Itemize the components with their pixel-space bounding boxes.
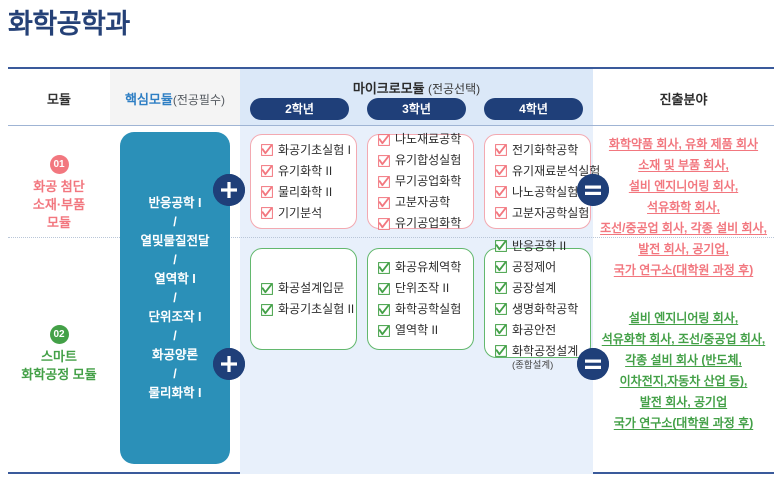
course-item: 전기화학공학 xyxy=(495,140,582,161)
check-icon xyxy=(495,282,507,294)
module-number-01: 01 xyxy=(50,155,69,174)
check-icon xyxy=(495,324,507,336)
course-item: 고분자공학실험 xyxy=(495,203,582,224)
year-pill-2[interactable]: 2학년 xyxy=(250,98,349,120)
course-label: 화공설계입문 xyxy=(278,278,344,299)
career-field-line: 석유화학 회사, xyxy=(593,197,774,218)
card-row2-year3[interactable]: 화공유체역학단위조작 II화학공학실험열역학 II xyxy=(367,248,474,350)
header-micro-module: 마이크로모듈 (전공선택) xyxy=(240,78,593,97)
course-item: 무기공업화학 xyxy=(378,171,465,192)
check-icon xyxy=(378,283,390,295)
course-item: 유기재료분석실험 xyxy=(495,161,582,182)
check-icon xyxy=(495,240,507,252)
course-item: 화공안전 xyxy=(495,320,582,341)
course-label: 화공안전 xyxy=(512,320,556,341)
course-sub-note: (종합설계) xyxy=(512,360,582,371)
table-body: 01 화공 첨단 소재·부품 모듈 02 스마트 화학공정 모듈 반응공학 I … xyxy=(8,126,774,474)
career-fields-row1: 화학약품 회사, 유화 제품 회사소재 및 부품 회사,설비 엔지니어링 회사,… xyxy=(593,134,774,281)
course-item: 화공기초실험 I xyxy=(261,140,348,161)
header-core-main: 핵심모듈 xyxy=(125,92,173,107)
course-label: 무기공업화학 xyxy=(395,171,461,192)
check-icon xyxy=(495,303,507,315)
course-item: 유기합성실험 xyxy=(378,150,465,171)
card-row1-year2[interactable]: 화공기초실험 I유기화학 II물리화학 II기기분석 xyxy=(250,134,357,229)
check-icon xyxy=(378,325,390,337)
course-item: 고분자공학 xyxy=(378,192,465,213)
course-label: 화학공정설계 xyxy=(512,341,578,362)
header-core-sub: (전공필수) xyxy=(173,93,225,107)
header-micro-main: 마이크로모듈 xyxy=(353,81,425,96)
career-field-line: 설비 엔지니어링 회사, xyxy=(593,176,774,197)
card-row1-year4[interactable]: 전기화학공학유기재료분석실험나노공학실험고분자공학실험 xyxy=(484,134,591,229)
check-icon xyxy=(261,186,273,198)
course-label: 전기화학공학 xyxy=(512,140,578,161)
career-field-line: 화학약품 회사, 유화 제품 회사 xyxy=(593,134,774,155)
course-label: 화공기초실험 I xyxy=(278,140,351,161)
check-icon xyxy=(261,207,273,219)
header-career-field: 진출분야 xyxy=(593,89,774,108)
course-item: 화학공정설계 xyxy=(495,341,582,362)
course-label: 단위조작 II xyxy=(395,278,449,299)
check-icon xyxy=(261,283,273,295)
equals-icon-row1 xyxy=(577,174,609,206)
course-label: 화공기초실험 II xyxy=(278,299,354,320)
career-field-line: 설비 엔지니어링 회사, xyxy=(593,308,774,329)
check-icon xyxy=(261,304,273,316)
header-module: 모듈 xyxy=(8,89,110,108)
check-icon xyxy=(495,207,507,219)
career-field-line: 조선/중공업 회사, 각종 설비 회사, xyxy=(593,218,774,239)
course-label: 물리화학 II xyxy=(278,182,332,203)
course-label: 반응공학 II xyxy=(512,236,566,257)
year-pill-3[interactable]: 3학년 xyxy=(367,98,466,120)
career-field-line: 국가 연구소(대학원 과정 후) xyxy=(593,413,774,434)
course-item: 반응공학 II xyxy=(495,236,582,257)
course-item: 단위조작 II xyxy=(378,278,465,299)
career-field-line: 국가 연구소(대학원 과정 후) xyxy=(593,260,774,281)
career-field-line: 소재 및 부품 회사, xyxy=(593,155,774,176)
core-module-course-list: 반응공학 I / 열및물질전달 / 열역학 I / 단위조작 I / 화공양론 … xyxy=(140,194,209,403)
plus-icon-row2 xyxy=(213,348,245,380)
course-label: 유기공업화학 xyxy=(395,213,461,234)
course-item: 공장설계 xyxy=(495,278,582,299)
course-item: 물리화학 II xyxy=(261,182,348,203)
equals-icon-row2 xyxy=(577,348,609,380)
course-label: 고분자공학 xyxy=(395,192,450,213)
check-icon xyxy=(495,345,507,357)
course-item: 화공기초실험 II xyxy=(261,299,348,320)
card-row2-year2[interactable]: 화공설계입문화공기초실험 II xyxy=(250,248,357,350)
course-item: 기기분석 xyxy=(261,203,348,224)
check-icon xyxy=(495,144,507,156)
course-item: 생명화학공학 xyxy=(495,299,582,320)
check-icon xyxy=(378,218,390,230)
check-icon xyxy=(378,134,390,146)
curriculum-page: 화학공학과 모듈 핵심모듈(전공필수) 마이크로모듈 (전공선택) 2학년 3학… xyxy=(0,0,782,487)
year-pill-group: 2학년 3학년 4학년 xyxy=(240,98,593,120)
course-label: 화공유체역학 xyxy=(395,257,461,278)
check-icon xyxy=(261,165,273,177)
module-name-02: 스마트 화학공정 모듈 xyxy=(8,348,110,384)
module-number-02: 02 xyxy=(50,325,69,344)
course-label: 공장설계 xyxy=(512,278,556,299)
check-icon xyxy=(378,304,390,316)
check-icon xyxy=(378,155,390,167)
career-field-line: 발전 회사, 공기업, xyxy=(593,239,774,260)
card-row2-year4[interactable]: 반응공학 II공정제어공장설계생명화학공학화공안전화학공정설계(종합설계) xyxy=(484,248,591,358)
career-field-line: 각종 설비 회사 (반도체, xyxy=(593,350,774,371)
course-item: 열역학 II xyxy=(378,320,465,341)
course-item: 공정제어 xyxy=(495,257,582,278)
course-label: 열역학 II xyxy=(395,320,438,341)
course-item: 유기공업화학 xyxy=(378,213,465,234)
check-icon xyxy=(378,262,390,274)
check-icon xyxy=(495,165,507,177)
course-label: 생명화학공학 xyxy=(512,299,578,320)
career-field-line: 석유화학 회사, 조선/중공업 회사, xyxy=(593,329,774,350)
page-title: 화학공학과 xyxy=(8,2,130,41)
course-label: 화학공학실험 xyxy=(395,299,461,320)
card-row1-year3[interactable]: 나노재료공학유기합성실험무기공업화학고분자공학유기공업화학 xyxy=(367,134,474,229)
curriculum-table: 모듈 핵심모듈(전공필수) 마이크로모듈 (전공선택) 2학년 3학년 4학년 … xyxy=(8,67,774,474)
header-micro-sub: (전공선택) xyxy=(425,82,481,96)
course-label: 기기분석 xyxy=(278,203,322,224)
course-item: 화공유체역학 xyxy=(378,257,465,278)
course-item: 나노재료공학 xyxy=(378,129,465,150)
course-item: 화공설계입문 xyxy=(261,278,348,299)
check-icon xyxy=(378,197,390,209)
year-pill-4[interactable]: 4학년 xyxy=(484,98,583,120)
career-field-line: 발전 회사, 공기업 xyxy=(593,392,774,413)
module-label-02: 02 스마트 화학공정 모듈 xyxy=(8,324,110,384)
table-header: 모듈 핵심모듈(전공필수) 마이크로모듈 (전공선택) 2학년 3학년 4학년 … xyxy=(8,69,774,126)
plus-icon-row1 xyxy=(213,174,245,206)
check-icon xyxy=(495,186,507,198)
course-label: 나노공학실험 xyxy=(512,182,578,203)
check-icon xyxy=(261,144,273,156)
career-fields-row2: 설비 엔지니어링 회사,석유화학 회사, 조선/중공업 회사,각종 설비 회사 … xyxy=(593,308,774,434)
module-label-01: 01 화공 첨단 소재·부품 모듈 xyxy=(8,154,110,232)
course-item: 나노공학실험 xyxy=(495,182,582,203)
course-label: 유기화학 II xyxy=(278,161,332,182)
course-item: 유기화학 II xyxy=(261,161,348,182)
career-field-line: 이차전지,자동차 산업 등), xyxy=(593,371,774,392)
check-icon xyxy=(378,176,390,188)
course-item: 화학공학실험 xyxy=(378,299,465,320)
course-label: 나노재료공학 xyxy=(395,129,461,150)
module-name-01: 화공 첨단 소재·부품 모듈 xyxy=(8,178,110,232)
course-label: 유기합성실험 xyxy=(395,150,461,171)
course-label: 공정제어 xyxy=(512,257,556,278)
header-core-module: 핵심모듈(전공필수) xyxy=(110,89,240,108)
check-icon xyxy=(495,261,507,273)
